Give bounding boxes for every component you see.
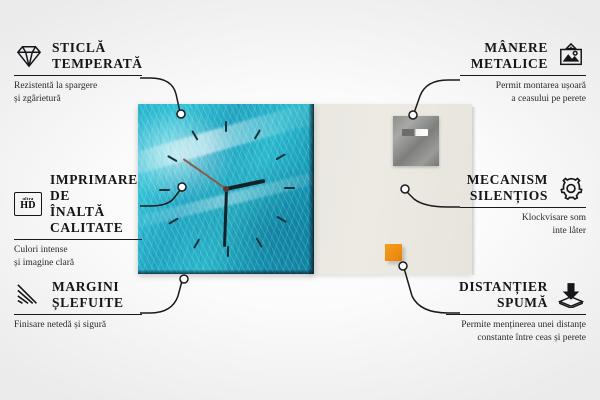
callout-high-quality-print[interactable]: ultra HD IMPRIMARE DE ÎNALTĂ CALITATE Cu…	[14, 172, 142, 269]
hanger-slot	[402, 129, 428, 136]
hour-tick	[284, 187, 295, 189]
callout-title: MÂNERE METALICE	[471, 40, 548, 72]
callout-title: MECANISM SILENȚIOS	[467, 172, 548, 204]
picture-hanger-icon	[556, 43, 586, 69]
product-image	[138, 104, 472, 276]
leader-line-edges	[140, 277, 183, 313]
callout-description: Rezistentă la spargere și zgârietură	[14, 80, 142, 105]
polished-edges-icon	[14, 282, 44, 308]
divider	[460, 207, 586, 209]
callout-title: IMPRIMARE DE ÎNALTĂ CALITATE	[50, 172, 142, 236]
hour-tick	[227, 246, 229, 257]
callout-polished-edges[interactable]: MARGINI ȘLEFUITE Finisare netedă și sigu…	[14, 279, 142, 332]
callout-metal-handles[interactable]: MÂNERE METALICE Permit montarea ușoară a…	[460, 40, 586, 106]
callout-foam-spacer[interactable]: DISTANȚIER SPUMĂ Permite menținerea unei…	[446, 279, 586, 345]
callout-description: Permite menținerea unei distanțe constan…	[446, 319, 586, 344]
divider	[446, 314, 586, 316]
callout-description: Culori intense și imagine clară	[14, 244, 142, 269]
divider	[14, 75, 142, 77]
clock-face	[138, 104, 314, 274]
divider	[14, 314, 142, 316]
callout-description: Permit montarea ușoară a ceasului pe per…	[460, 80, 586, 105]
press-down-icon	[556, 282, 586, 308]
callout-tempered-glass[interactable]: STICLĂ TEMPERATĂ Rezistentă la spargere …	[14, 40, 142, 106]
hour-tick	[225, 121, 227, 132]
gear-icon	[556, 175, 586, 201]
callout-description: Finisare netedă și sigură	[14, 319, 142, 332]
diamond-icon	[14, 43, 44, 69]
hour-tick	[159, 189, 170, 191]
foam-spacer-pad	[385, 244, 402, 261]
metal-hanger-plate	[393, 116, 439, 166]
infographic-canvas: STICLĂ TEMPERATĂ Rezistentă la spargere …	[0, 0, 600, 400]
hands-pivot	[223, 186, 229, 192]
glass-edge-bottom	[138, 270, 314, 274]
callout-silent-mechanism[interactable]: MECANISM SILENȚIOS Klockvisare som inte …	[460, 172, 586, 238]
divider	[460, 75, 586, 77]
callout-description: Klockvisare som inte låter	[460, 212, 586, 237]
divider	[14, 239, 142, 241]
callout-title: DISTANȚIER SPUMĂ	[459, 279, 548, 311]
ultra-hd-icon: ultra HD	[14, 192, 42, 216]
glass-edge-right	[309, 104, 314, 274]
leader-dot-edges	[180, 275, 188, 283]
callout-title: MARGINI ȘLEFUITE	[52, 279, 124, 311]
callout-title: STICLĂ TEMPERATĂ	[52, 40, 143, 72]
